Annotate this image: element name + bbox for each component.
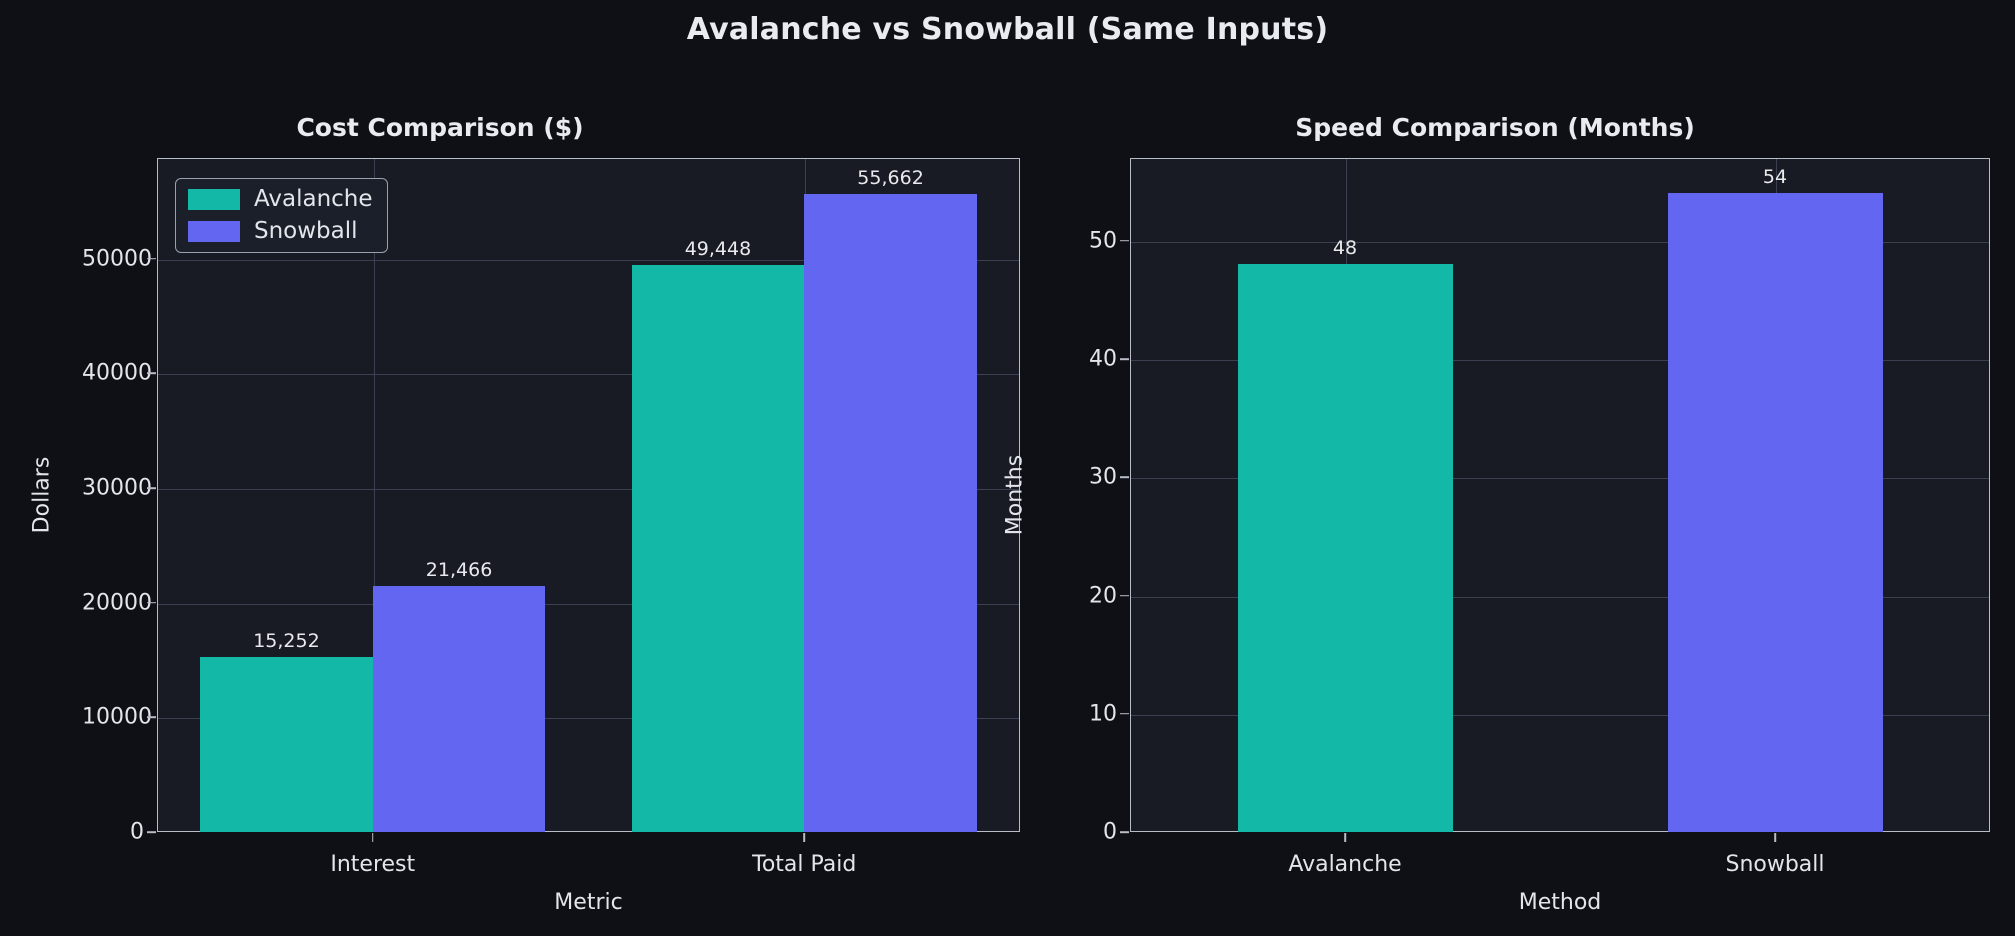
bar[interactable] bbox=[200, 657, 373, 832]
bar-value-label: 55,662 bbox=[857, 167, 923, 189]
x-axis-label-method: Method bbox=[1519, 890, 1602, 915]
bar[interactable] bbox=[632, 265, 805, 832]
subplot-title-cost: Cost Comparison ($) bbox=[10, 113, 870, 142]
y-axis-label-months: Months bbox=[1003, 455, 1028, 535]
legend-swatch-snowball bbox=[188, 221, 240, 242]
x-tick-label-interest: Interest bbox=[330, 852, 415, 877]
y-tick-mark bbox=[147, 373, 156, 375]
bar-value-label: 21,466 bbox=[426, 559, 492, 581]
y-tick-label: 0 bbox=[1055, 820, 1117, 845]
x-tick-mark bbox=[1774, 833, 1776, 842]
y-tick-mark bbox=[1120, 713, 1129, 715]
y-tick-label: 50000 bbox=[82, 246, 144, 271]
bar[interactable] bbox=[373, 586, 546, 832]
y-tick-label: 50 bbox=[1055, 228, 1117, 253]
x-axis-label-metric: Metric bbox=[554, 890, 622, 915]
y-tick-mark bbox=[147, 258, 156, 260]
y-tick-mark bbox=[147, 602, 156, 604]
x-tick-label-avalanche: Avalanche bbox=[1288, 852, 1401, 877]
legend-label-avalanche: Avalanche bbox=[254, 188, 373, 211]
x-tick-mark bbox=[372, 833, 374, 842]
subplot-cost-comparison: Cost Comparison ($) 0 10000 20000 30000 … bbox=[0, 0, 1020, 936]
legend-swatch-avalanche bbox=[188, 189, 240, 210]
y-axis-label-dollars: Dollars bbox=[30, 457, 55, 534]
subplot-title-speed: Speed Comparison (Months) bbox=[1065, 113, 1925, 142]
y-tick-mark bbox=[1120, 595, 1129, 597]
bar-value-label: 48 bbox=[1333, 237, 1357, 259]
bar-value-label: 15,252 bbox=[253, 630, 319, 652]
y-tick-label: 0 bbox=[82, 820, 144, 845]
y-tick-mark bbox=[1120, 831, 1129, 833]
bar-value-label: 54 bbox=[1763, 166, 1787, 188]
y-tick-mark bbox=[147, 717, 156, 719]
y-tick-mark bbox=[147, 831, 156, 833]
y-tick-mark bbox=[1120, 240, 1129, 242]
y-tick-label: 30 bbox=[1055, 465, 1117, 490]
subplot-speed-comparison: Speed Comparison (Months) 0 10 20 30 40 … bbox=[1020, 0, 2015, 936]
y-tick-label: 30000 bbox=[82, 476, 144, 501]
x-tick-label-snowball: Snowball bbox=[1725, 852, 1824, 877]
legend-box: Avalanche Snowball bbox=[175, 178, 388, 253]
y-tick-label: 20 bbox=[1055, 583, 1117, 608]
y-tick-label: 10000 bbox=[82, 705, 144, 730]
y-tick-mark bbox=[147, 487, 156, 489]
y-tick-mark bbox=[1120, 476, 1129, 478]
legend-label-snowball: Snowball bbox=[254, 220, 358, 243]
x-tick-mark bbox=[1344, 833, 1346, 842]
bar[interactable] bbox=[804, 194, 977, 832]
y-tick-mark bbox=[1120, 358, 1129, 360]
x-tick-mark bbox=[803, 833, 805, 842]
y-tick-label: 40000 bbox=[82, 361, 144, 386]
legend-item-snowball: Snowball bbox=[188, 220, 373, 243]
y-tick-label: 20000 bbox=[82, 590, 144, 615]
bar-value-label: 49,448 bbox=[685, 238, 751, 260]
y-tick-label: 10 bbox=[1055, 701, 1117, 726]
x-tick-label-total-paid: Total Paid bbox=[752, 852, 856, 877]
bar[interactable] bbox=[1668, 193, 1883, 832]
bar[interactable] bbox=[1238, 264, 1453, 832]
y-tick-label: 40 bbox=[1055, 347, 1117, 372]
figure-canvas: Avalanche vs Snowball (Same Inputs) Cost… bbox=[0, 0, 2015, 936]
legend-item-avalanche: Avalanche bbox=[188, 188, 373, 211]
